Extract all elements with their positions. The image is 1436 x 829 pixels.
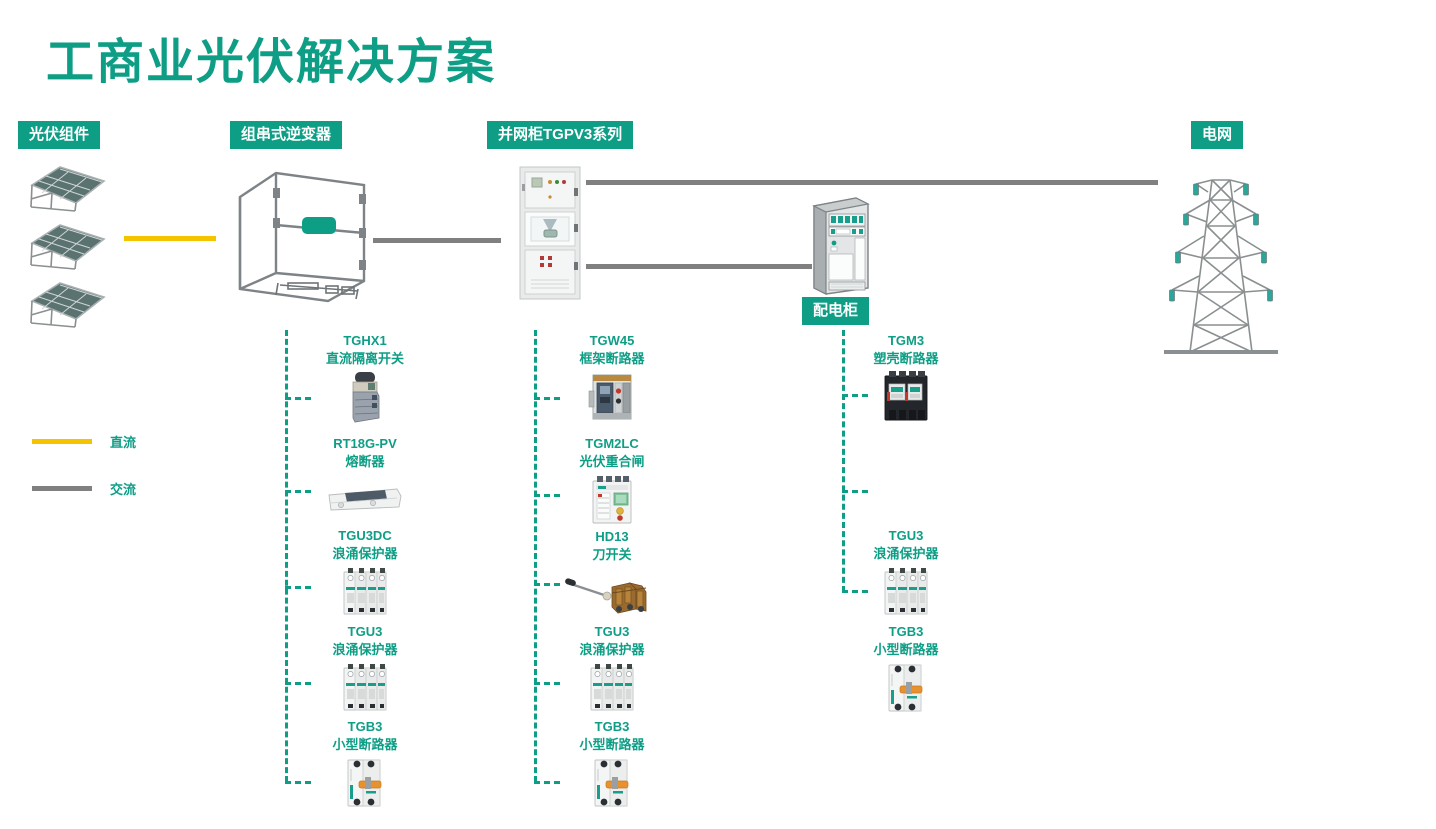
moulded-case-circuit-breaker-image [826,369,986,425]
component-item: TGHX1 直流隔离开关 [285,332,445,425]
knife-switch-image [532,565,692,621]
component-item: TGW45 框架断路器 [532,332,692,425]
ac-connection-line-cabinet-grid [586,180,1158,185]
component-name: 塑壳断路器 [826,350,986,368]
surge-protector-image [826,564,986,620]
solar-panel-array-image [22,163,122,338]
miniature-circuit-breaker-image [826,660,986,716]
badge-distribution-cabinet: 配电柜 [802,297,869,325]
component-item: TGM3 塑壳断路器 [826,332,986,425]
component-item: HD13 刀开关 [532,528,692,621]
component-item: TGU3 浪涌保护器 [532,623,692,716]
pv-recloser-image [532,472,692,528]
component-item: TGB3 小型断路器 [826,623,986,716]
component-name: 小型断路器 [532,736,692,754]
component-name: 浪涌保护器 [285,545,445,563]
surge-protector-image [285,564,445,620]
component-model: TGB3 [285,718,445,736]
component-name: 直流隔离开关 [285,350,445,368]
dc-isolator-switch-image [285,369,445,425]
component-name: 小型断路器 [285,736,445,754]
miniature-circuit-breaker-image [285,755,445,811]
ac-line-swatch [32,486,92,491]
legend-label: 交流 [110,479,136,498]
component-name: 熔断器 [285,453,445,471]
legend-label: 直流 [110,432,136,451]
component-name: 框架断路器 [532,350,692,368]
component-model: TGU3 [285,623,445,641]
component-item: TGB3 小型断路器 [532,718,692,811]
branch-stub [842,490,868,493]
component-name: 光伏重合闸 [532,453,692,471]
legend-item-ac: 交流 [32,479,136,498]
component-model: TGM2LC [532,435,692,453]
component-name: 小型断路器 [826,641,986,659]
surge-protector-image [532,660,692,716]
dc-line-swatch [32,439,92,444]
component-model: TGM3 [826,332,986,350]
air-circuit-breaker-image [532,369,692,425]
legend-item-dc: 直流 [32,432,136,451]
component-model: TGB3 [826,623,986,641]
component-name: 浪涌保护器 [826,545,986,563]
component-item: TGU3 浪涌保护器 [285,623,445,716]
distribution-cabinet-image [808,196,872,296]
component-model: TGU3DC [285,527,445,545]
component-item: TGB3 小型断路器 [285,718,445,811]
diagram-canvas: 工商业光伏解决方案 光伏组件 组串式逆变器 并网柜TGPV3系列 配电柜 电网 [0,0,1436,829]
component-model: TGU3 [532,623,692,641]
component-item: RT18G-PV 熔断器 [285,435,445,528]
badge-power-grid: 电网 [1191,121,1243,149]
component-model: HD13 [532,528,692,546]
component-item: TGU3 浪涌保护器 [826,527,986,620]
component-item: TGM2LC 光伏重合闸 [532,435,692,528]
grid-connection-cabinet-image [519,166,581,300]
ac-connection-line-inverter-cabinet [373,238,501,243]
component-name: 刀开关 [532,546,692,564]
fuse-image [285,472,445,528]
page-title: 工商业光伏解决方案 [46,22,496,92]
component-model: TGW45 [532,332,692,350]
component-model: TGU3 [826,527,986,545]
miniature-circuit-breaker-image [532,755,692,811]
component-model: RT18G-PV [285,435,445,453]
component-item: TGU3DC 浪涌保护器 [285,527,445,620]
transmission-tower-image [1160,160,1282,360]
string-inverter-image [232,163,372,303]
component-model: TGHX1 [285,332,445,350]
component-name: 浪涌保护器 [532,641,692,659]
surge-protector-image [285,660,445,716]
ac-connection-line-cabinet-distribution [586,264,812,269]
badge-pv-modules: 光伏组件 [18,121,100,149]
badge-string-inverter: 组串式逆变器 [230,121,342,149]
component-name: 浪涌保护器 [285,641,445,659]
badge-grid-cabinet: 并网柜TGPV3系列 [487,121,633,149]
component-model: TGB3 [532,718,692,736]
dc-connection-line [124,236,216,241]
